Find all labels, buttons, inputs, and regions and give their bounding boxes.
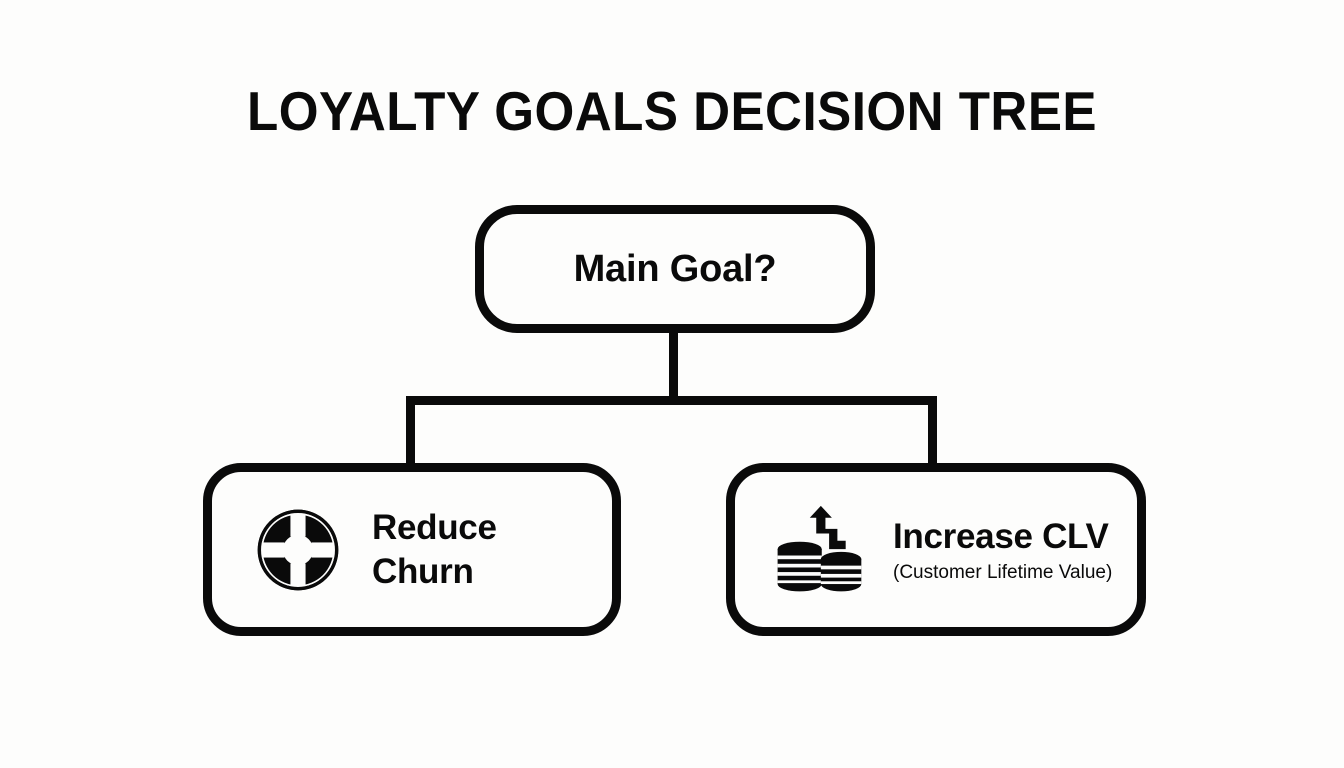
connector-drop-right	[928, 396, 937, 470]
connector-branch-bar	[406, 396, 937, 405]
node-main-goal-label: Main Goal?	[574, 250, 777, 288]
diagram-canvas: LOYALTY GOALS DECISION TREE Main Goal? R…	[0, 0, 1344, 768]
connector-root-stem	[669, 330, 678, 402]
node-main-goal[interactable]: Main Goal?	[475, 205, 875, 333]
node-increase-clv-subtitle: (Customer Lifetime Value)	[893, 561, 1112, 585]
lifebuoy-icon	[256, 508, 340, 592]
connector-drop-left	[406, 396, 415, 470]
node-reduce-churn[interactable]: Reduce Churn	[203, 463, 621, 636]
node-increase-clv-text: Increase CLV (Customer Lifetime Value)	[893, 515, 1112, 585]
node-increase-clv-label: Increase CLV	[893, 515, 1112, 559]
coin-stacks-growth-icon	[773, 504, 865, 596]
node-increase-clv[interactable]: Increase CLV (Customer Lifetime Value)	[726, 463, 1146, 636]
page-title: LOYALTY GOALS DECISION TREE	[47, 78, 1297, 144]
node-reduce-churn-text: Reduce Churn	[372, 506, 497, 594]
node-reduce-churn-label: Reduce Churn	[372, 506, 497, 594]
